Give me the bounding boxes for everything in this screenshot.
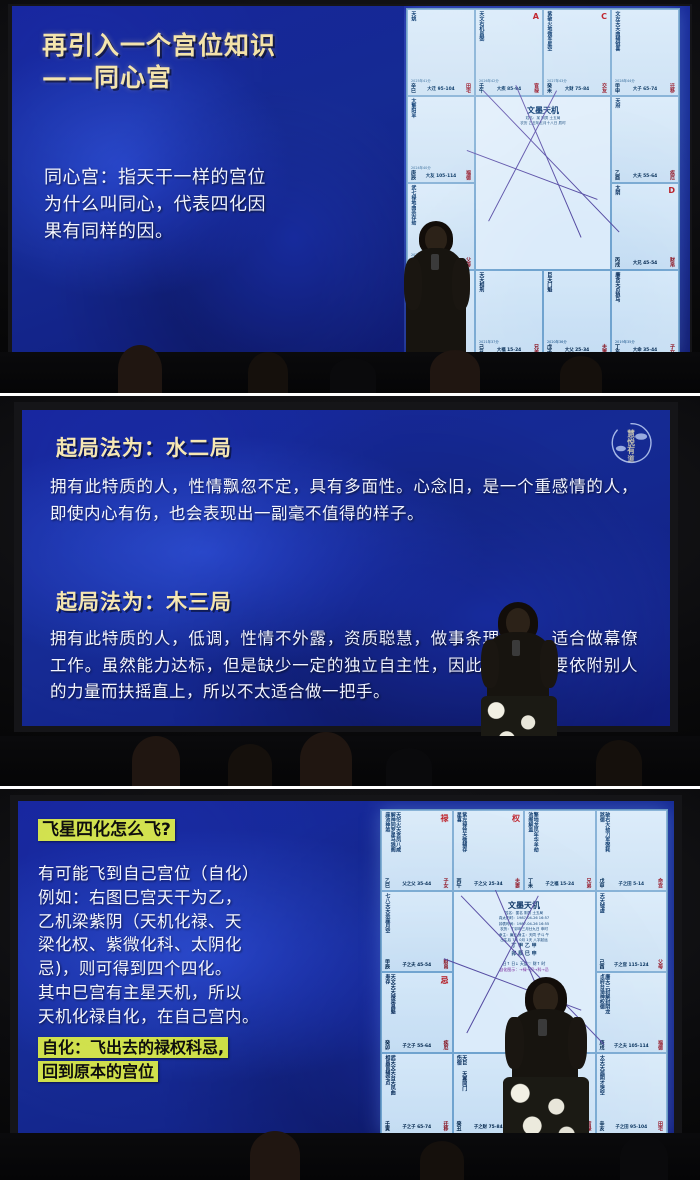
palace-stem-branch: 丙午 <box>456 878 463 888</box>
palace-name: 迁移 <box>669 83 676 93</box>
palace-name: 财帛 <box>443 959 450 969</box>
video-frame-top: 再引入一个宫位知识 ——同心宫 同心宫：指天干一样的宫位 为什么叫同心，代表四化… <box>0 0 700 393</box>
palace-name: 疾厄 <box>669 170 676 180</box>
palace-stars: 天佗火天贪凤八咸解神同罗星马狼阁座池神煞 <box>384 812 400 857</box>
palace-marker: A <box>533 12 539 21</box>
palace-stars: 天府 <box>614 98 619 146</box>
palace-age-range: 子之福 15-24 <box>545 881 574 887</box>
chart-palace-cell[interactable]: 天文右机昌弼A2026年42分大疾 85-94壬午官禄 <box>475 9 543 96</box>
chart-center-title: 文墨天机 <box>458 900 591 911</box>
chart-palace-cell[interactable]: 太天天孤阴才哭空子之田 95-104辛亥田宅 <box>596 1053 668 1134</box>
palace-stars: 破右大劫刀军弼耗煞德 <box>599 812 610 857</box>
svg-text:悦: 悦 <box>627 437 635 447</box>
audience-head <box>420 1141 464 1180</box>
palace-stars: 廉贪天贞狼马 <box>614 272 619 320</box>
audience-head <box>132 736 180 786</box>
slide-body-line: 乙机梁紫阴（天机化禄、天 <box>38 910 372 934</box>
slide-body-3: 有可能飞到自己宫位（自化）例如：右图巳宫天干为乙，乙机梁紫阴（天机化禄、天梁化权… <box>38 862 372 1028</box>
chart-palace-cell[interactable]: 七八天天杀座月空子之夫 45-54甲辰财帛 <box>381 891 453 972</box>
palace-stem-branch: 乙酉 <box>614 170 621 180</box>
palace-stem-branch: 庚戌 <box>599 1040 606 1050</box>
palace-stars: 武天文天台天凤曲相昌官辅空贞 <box>384 1055 395 1100</box>
palace-stem-branch: 辛亥 <box>599 1121 606 1131</box>
slide-body-line: 其中巳宫有主星天机，所以 <box>38 981 372 1005</box>
slide-highlight-line: 回到原本的宫位 <box>38 1060 372 1084</box>
palace-name: 财帛 <box>669 257 676 267</box>
palace-name: 福德 <box>657 1040 664 1050</box>
palace-age-range: 子之田 5-14 <box>618 881 644 887</box>
slide-body-line: 天机化禄自化，在自己宫内。 <box>38 1005 372 1029</box>
slide-title-3: 飞星四化怎么飞? <box>38 815 372 840</box>
audience-head <box>620 1135 668 1180</box>
palace-stem-branch: 壬寅 <box>384 1121 391 1131</box>
palace-stem-branch: 甲辰 <box>384 959 391 969</box>
slide-surface-1: 再引入一个宫位知识 ——同心宫 同心宫：指天干一样的宫位 为什么叫同心，代表四化… <box>12 6 404 362</box>
palace-stem-branch: 己酉 <box>599 959 606 969</box>
palace-marker: C <box>601 12 607 21</box>
audience-head <box>228 744 272 786</box>
palace-name: 子女 <box>443 878 450 888</box>
palace-stem-branch: 甲申 <box>614 83 621 93</box>
palace-age-range: 父之父 35-44 <box>402 881 431 887</box>
palace-stem-branch: 癸丑 <box>456 1121 463 1131</box>
chart-palace-cell[interactable]: 紫破火地微军星空C2027年43分大财 75-84癸未交友 <box>543 9 611 96</box>
palace-age-range: 子之夫 105-114 <box>614 1043 649 1049</box>
chart-center-line: 农历 乙丑年五月十八日 辰时 <box>480 121 606 126</box>
svg-text:慧: 慧 <box>627 429 635 439</box>
palace-age-range: 子之子 55-64 <box>402 1043 431 1049</box>
slide-body-line: 有可能飞到自己宫位（自化） <box>38 862 372 886</box>
palace-stars: 武七禄地曲杀存劫 <box>410 185 415 233</box>
svg-text:道: 道 <box>628 454 635 463</box>
chart-palace-cell[interactable]: 天文天天禄梁昌魁寿存忌子之子 55-64癸卯疾厄 <box>381 972 453 1053</box>
slide-body-line: 忌)，则可得到四个四化。 <box>38 957 372 981</box>
audience-head <box>430 350 480 393</box>
slide-title-highlight: 飞星四化怎么飞? <box>38 819 175 841</box>
audience-head <box>330 358 376 393</box>
chart-palace-cell[interactable]: 擎地龙凤年华羊劫池阁解盖子之福 15-24丁未兄弟 <box>524 810 596 891</box>
palace-name: 迁移 <box>443 1121 450 1131</box>
palace-stars: 廉天三封解封阴龙贞府台诰神权德 <box>599 974 610 1019</box>
chart-palace-cell[interactable]: 天天钺虚子之官 115-124己酉父母 <box>596 891 668 972</box>
palace-age-range: 子之官 115-124 <box>614 962 649 968</box>
audience-head <box>386 748 432 786</box>
palace-stars: 太阴 <box>614 185 619 233</box>
chart-bazi-line: 丁 甲 乙 甲 <box>458 943 591 951</box>
palace-age-range: 子之父 25-34 <box>474 881 503 887</box>
palace-name: 交友 <box>601 83 608 93</box>
chart-center-title: 文墨天机 <box>480 105 606 116</box>
palace-name: 疾厄 <box>443 1040 450 1050</box>
palace-stars: 天文天天禄梁昌魁寿存 <box>384 974 395 1019</box>
slide-body-line: 例如：右图巳宫天干为乙， <box>38 886 372 910</box>
chart-palace-cell[interactable]: 天府大夫 55-64乙酉疾厄 <box>611 96 679 183</box>
palace-stars: 天天相刑 <box>478 272 483 320</box>
palace-stars: 天姚 <box>410 11 415 59</box>
palace-stem-branch: 戊申 <box>599 878 606 888</box>
audience-head <box>596 740 642 786</box>
audience-head <box>248 352 288 393</box>
chart-palace-cell[interactable]: 巨天门魁2020年36分大父 25-34戊子夫妻 <box>543 270 611 357</box>
palace-stars: 天天钺虚 <box>599 893 604 938</box>
chart-palace-cell[interactable]: 太擎阳羊2024年40分大友 105-114庚辰福德 <box>407 96 475 183</box>
palace-marker: 权 <box>512 813 520 824</box>
palace-age-range: 子之夫 45-54 <box>402 962 431 968</box>
video-frame-bottom: 飞星四化怎么飞? 有可能飞到自己宫位（自化）例如：右图巳宫天干为乙，乙机梁紫阴（… <box>0 789 700 1180</box>
palace-name: 福德 <box>465 170 472 180</box>
slide-body-water: 拥有此特质的人，性情飘忽不定，具有多面性。心念旧，是一个重感情的人，即使内心有伤… <box>50 474 638 527</box>
palace-age-range: 子之子 65-74 <box>402 1124 431 1130</box>
svg-text:有: 有 <box>627 445 635 455</box>
slide-highlight-line: 自化：飞出去的禄权科忌, <box>38 1036 372 1060</box>
palace-age-range: 大迁 95-104 <box>427 86 454 92</box>
palace-stem-branch: 乙巳 <box>384 878 391 888</box>
audience-row-3 <box>0 1133 700 1180</box>
slide-highlight-block-3: 自化：飞出去的禄权科忌,回到原本的宫位 <box>38 1036 372 1084</box>
audience-head <box>560 356 602 393</box>
chart-palace-cell[interactable]: 天姚2025年41分大迁 95-104辛巳田宅 <box>407 9 475 96</box>
palace-age-range: 子之财 75-84 <box>474 1124 503 1130</box>
slide-text-column-3: 飞星四化怎么飞? 有可能飞到自己宫位（自化）例如：右图巳宫天干为乙，乙机梁紫阴（… <box>38 815 372 1054</box>
palace-name: 命宫 <box>657 878 664 888</box>
palace-name: 田宅 <box>657 1121 664 1131</box>
palace-stem-branch: 丙戌 <box>614 257 621 267</box>
palace-stars: 文左天天曲辅钺喜 <box>614 11 619 59</box>
palace-stars: 擎地龙凤年华羊劫池阁解盖 <box>527 812 538 857</box>
palace-age-range: 大疾 85-94 <box>497 86 521 92</box>
palace-age-range: 大夫 55-64 <box>633 173 657 179</box>
slide-title-1: 再引入一个宫位知识 ——同心宫 <box>42 30 276 94</box>
chart-palace-cell[interactable]: 武天文天台天凤曲相昌官辅空贞子之子 65-74壬寅迁移 <box>381 1053 453 1134</box>
palace-stars: 巨天门魁 <box>546 272 551 320</box>
palace-stars: 太天天孤阴才哭空 <box>599 1055 604 1100</box>
palace-age-range: 大财 75-84 <box>565 86 589 92</box>
palace-stars: 太擎阳羊 <box>410 98 415 146</box>
palace-stars: 七八天天杀座月空 <box>384 893 389 938</box>
chart-palace-cell[interactable]: 紫左禄铃天微辅存星喜权子之父 25-34丙午夫妻 <box>453 810 525 891</box>
slide-body-line: 梁化权、紫微化科、太阴化 <box>38 933 372 957</box>
palace-age-range: 大子 65-74 <box>633 86 657 92</box>
audience-head <box>118 345 162 393</box>
audience-head <box>300 732 352 786</box>
slide-heading-wood: 起局法为：木三局 <box>56 586 232 616</box>
slide-surface-2: 起局法为：水二局 拥有此特质的人，性情飘忽不定，具有多面性。心念旧，是一个重感情… <box>22 410 670 726</box>
palace-name: 父母 <box>657 959 664 969</box>
palace-stars: 紫破火地微军星空 <box>546 11 551 59</box>
palace-name: 官禄 <box>533 83 540 93</box>
chart-legend-note: 自化图示：→禄→权→科→忌 <box>458 967 591 973</box>
palace-marker: 禄 <box>441 813 449 824</box>
palace-stars: 紫左禄铃天微辅存星喜 <box>456 812 467 857</box>
chart-palace-cell[interactable]: 太阴D大兄 45-54丙戌财帛 <box>611 183 679 270</box>
palace-age-range: 大友 105-114 <box>426 173 456 179</box>
video-frame-middle: 起局法为：水二局 拥有此特质的人，性情飘忽不定，具有多面性。心念旧，是一个重感情… <box>0 396 700 786</box>
slide-heading-water: 起局法为：水二局 <box>56 432 232 462</box>
palace-name: 兄弟 <box>586 878 593 888</box>
palace-name: 夫妻 <box>514 878 521 888</box>
palace-age-range: 子之田 95-104 <box>615 1124 647 1130</box>
palace-stars: 天文右机昌弼 <box>478 11 483 59</box>
palace-age-range: 大兄 45-54 <box>633 260 657 266</box>
brand-logo-watermark: 慧 悦 有 道 <box>608 420 654 466</box>
chart-bazi-line: 卯 辰 巳 申 <box>458 951 591 959</box>
palace-stem-branch: 癸未 <box>546 83 553 93</box>
chart-palace-cell[interactable]: 天佗火天贪凤八咸解神同罗星马狼阁座池神煞禄父之父 35-44乙巳子女 <box>381 810 453 891</box>
palace-stem-branch: 丁未 <box>527 878 534 888</box>
palace-marker: D <box>668 186 675 195</box>
palace-stars: 天巨 天寡同门 伤宿 <box>456 1055 467 1100</box>
chart-center-info: 文墨天机姓名：某 阴男 土五局农历 乙丑年五月十八日 辰时 <box>475 96 611 270</box>
chart-palace-cell[interactable]: 文左天天曲辅钺喜2028年44分大子 65-74甲申迁移 <box>611 9 679 96</box>
slide-body-1: 同心宫：指天干一样的宫位 为什么叫同心，代表四化因 果有同样的因。 <box>44 164 390 245</box>
chart-palace-cell[interactable]: 天天相刑2021年37分大福 15-24己丑兄弟 <box>475 270 543 357</box>
palace-stem-branch: 壬午 <box>478 83 485 93</box>
palace-name: 田宅 <box>465 83 472 93</box>
chart-palace-cell[interactable]: 破右大劫刀军弼耗煞德子之田 5-14戊申命宫 <box>596 810 668 891</box>
chart-palace-cell[interactable]: 廉贪天贞狼马2019年35分大命 35-44丁亥子女 <box>611 270 679 357</box>
palace-stem-branch: 癸卯 <box>384 1040 391 1050</box>
palace-stem-branch: 庚辰 <box>410 170 417 180</box>
chart-palace-cell[interactable]: 廉天三封解封阴龙贞府台诰神权德子之夫 105-114庚戌福德 <box>596 972 668 1053</box>
audience-head <box>250 1131 300 1180</box>
palace-marker: 忌 <box>441 975 449 986</box>
palace-stem-branch: 辛巳 <box>410 83 417 93</box>
